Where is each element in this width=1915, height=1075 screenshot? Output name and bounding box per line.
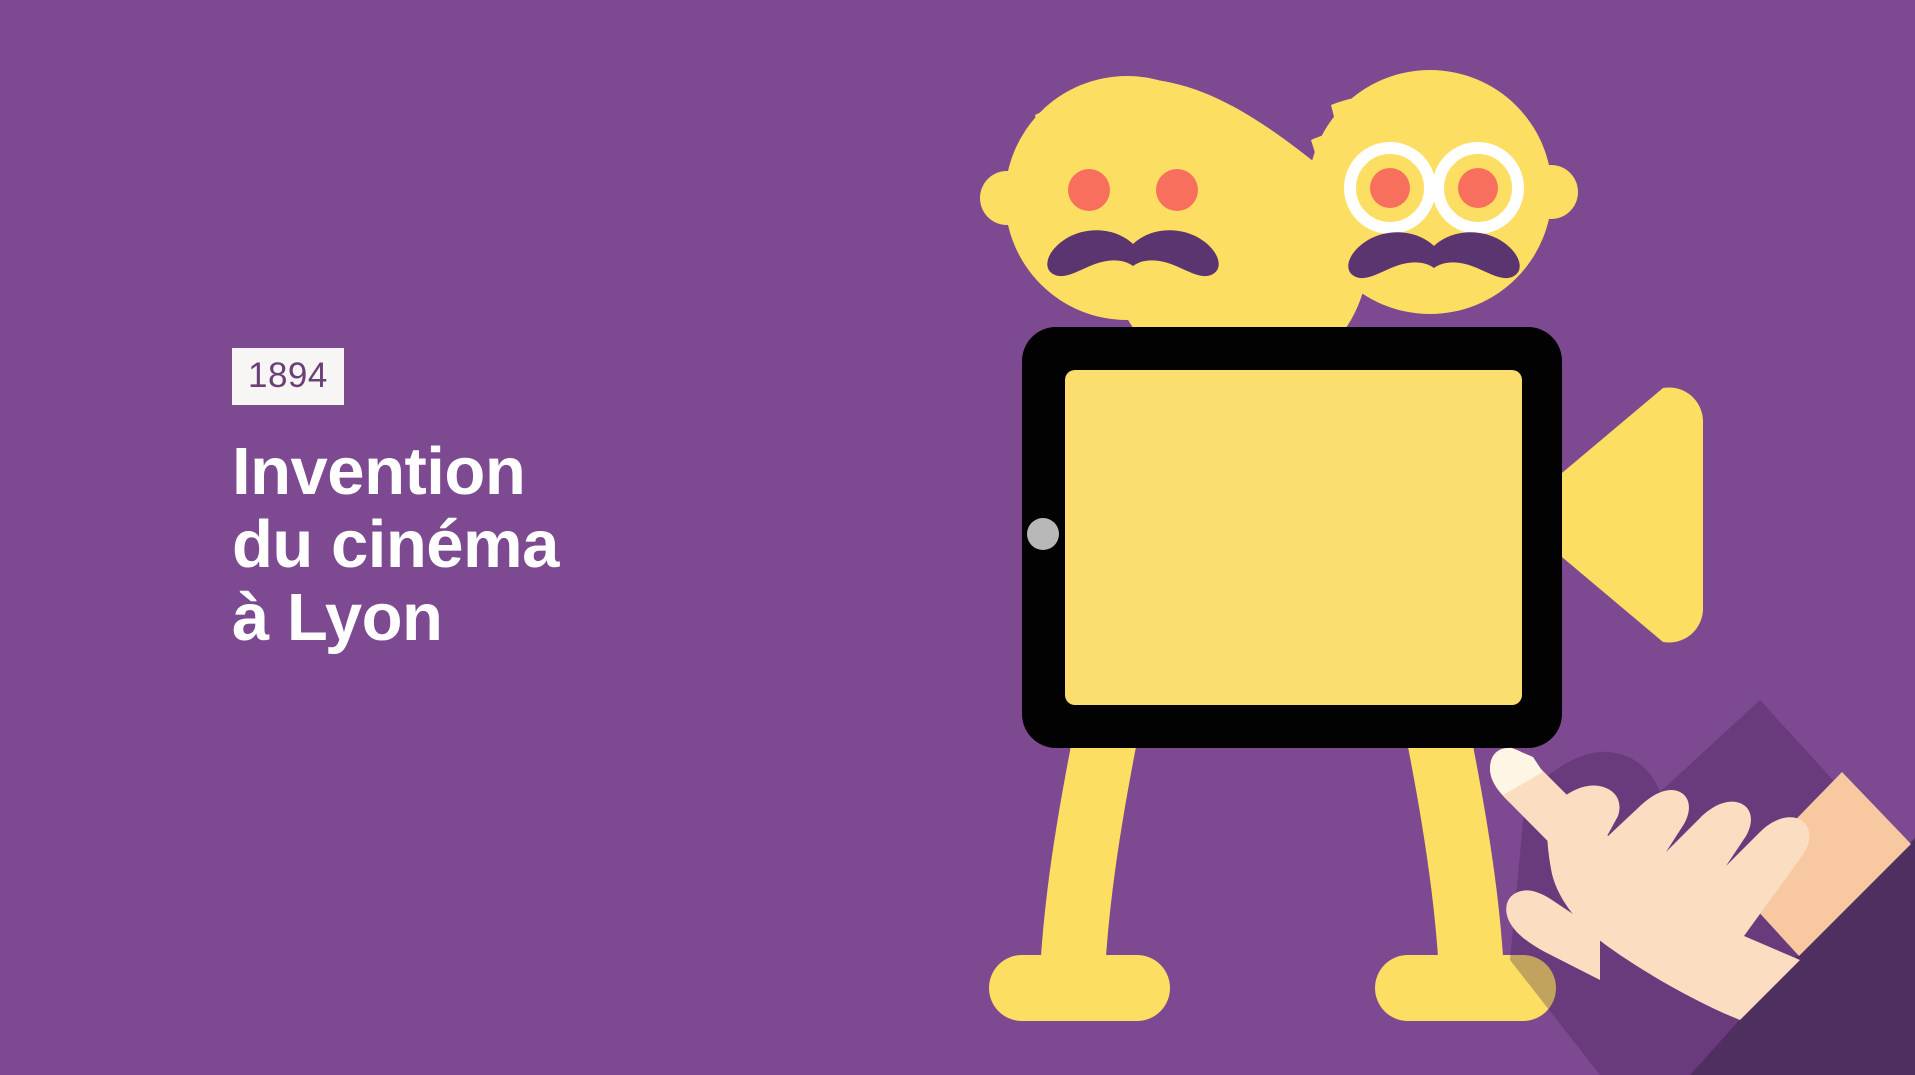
foot-right <box>1375 955 1556 1021</box>
hand-sleeve <box>1690 838 1915 1075</box>
glasses-lens-left <box>1350 148 1430 228</box>
hand-shadow <box>1510 700 1915 1075</box>
glasses-lens-right <box>1438 148 1518 228</box>
hair-tuft-right-upper <box>1331 92 1396 140</box>
character-right-head <box>1280 70 1578 314</box>
camera-screen <box>1065 370 1522 705</box>
ear-right-outer <box>1280 165 1334 219</box>
eye-right-right <box>1458 168 1498 208</box>
leg-right <box>1400 700 1504 988</box>
camera-body <box>1022 327 1562 748</box>
face-left <box>1007 78 1368 384</box>
face-left-circle <box>1005 76 1249 320</box>
page-title: Invention du cinéma à Lyon <box>232 435 872 654</box>
moustache-left <box>1047 230 1218 276</box>
glasses-bridge <box>1428 183 1442 192</box>
ear-right-inner <box>1524 165 1578 219</box>
hair-tuft-right-lower <box>1311 128 1374 172</box>
camera-body-group <box>1022 327 1562 748</box>
hand-thumb <box>1506 890 1600 980</box>
year-badge: 1894 <box>232 348 344 405</box>
text-block: 1894 Invention du cinéma à Lyon <box>232 348 872 654</box>
hand-palm <box>1547 785 1809 1020</box>
ear-left-outer <box>980 171 1034 225</box>
foot-left <box>989 955 1170 1021</box>
eye-left-left <box>1068 169 1110 211</box>
hand-cuff <box>1733 772 1911 956</box>
slide-root: 1894 Invention du cinéma à Lyon <box>0 0 1915 1075</box>
face-right-circle <box>1308 70 1552 314</box>
legs-group <box>989 700 1556 1021</box>
ear-left-inner <box>1221 171 1275 225</box>
leg-left <box>1040 700 1144 988</box>
character-left-head <box>980 76 1368 384</box>
camera-record-button <box>1027 518 1059 550</box>
moustache-right <box>1348 232 1519 278</box>
pointing-hand-cursor-group <box>1490 700 1915 1075</box>
hair-tuft-left <box>1035 100 1095 148</box>
hand-index-finger <box>1490 748 1656 914</box>
eye-right-left <box>1370 168 1410 208</box>
camera-lens <box>1556 387 1703 642</box>
hand-fingernail <box>1490 748 1543 795</box>
eye-left-right <box>1156 169 1198 211</box>
